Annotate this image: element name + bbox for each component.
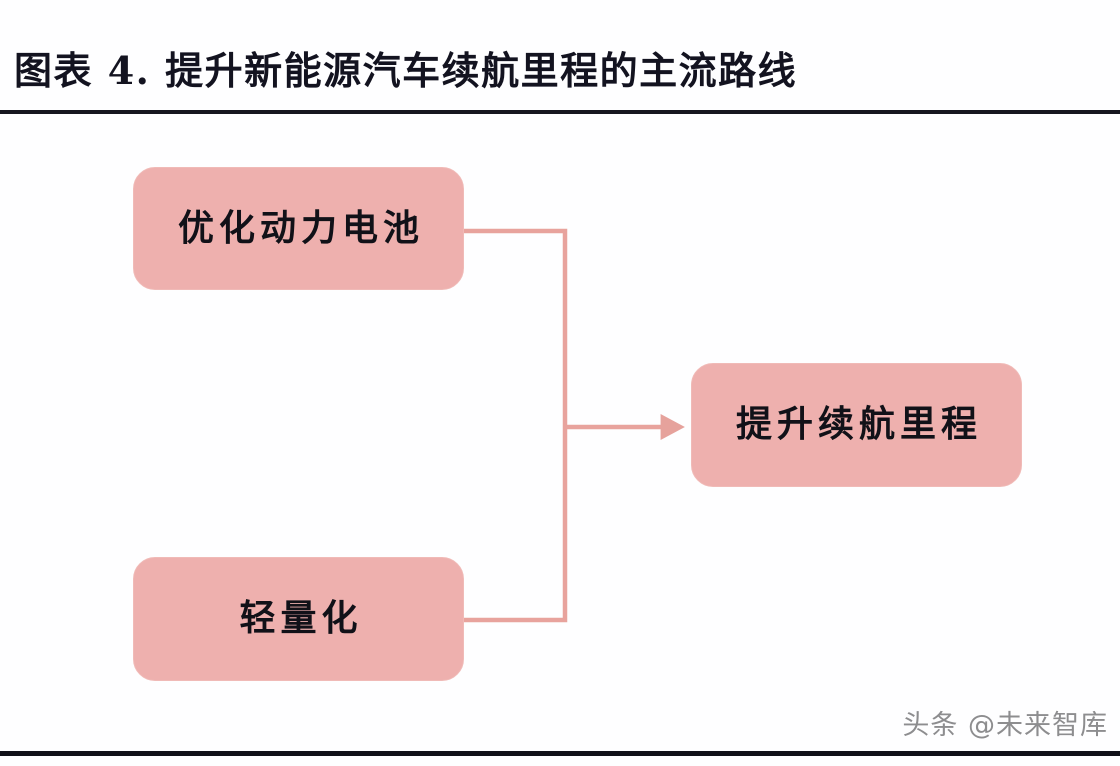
edge-lightweight-to-range bbox=[464, 427, 565, 620]
flow-node-lightweighting[interactable]: 轻量化 bbox=[133, 557, 464, 681]
flow-node-increase-range[interactable]: 提升续航里程 bbox=[691, 363, 1022, 487]
watermark-text: 头条 @未来智库 bbox=[876, 706, 1108, 746]
flow-node-optimize-battery[interactable]: 优化动力电池 bbox=[133, 167, 464, 290]
flow-node-label: 提升续航里程 bbox=[731, 405, 982, 445]
figure-page: 图表 4. 提升新能源汽车续航里程的主流路线 优化动力电池 轻量化 提升续航里程… bbox=[0, 0, 1120, 766]
page-title: 图表 4. 提升新能源汽车续航里程的主流路线 bbox=[14, 42, 1014, 100]
footer-divider bbox=[0, 751, 1120, 756]
edge-battery-to-range bbox=[464, 231, 565, 427]
title-divider bbox=[0, 110, 1120, 114]
flow-node-label: 轻量化 bbox=[234, 599, 362, 639]
flow-node-label: 优化动力电池 bbox=[173, 209, 424, 249]
